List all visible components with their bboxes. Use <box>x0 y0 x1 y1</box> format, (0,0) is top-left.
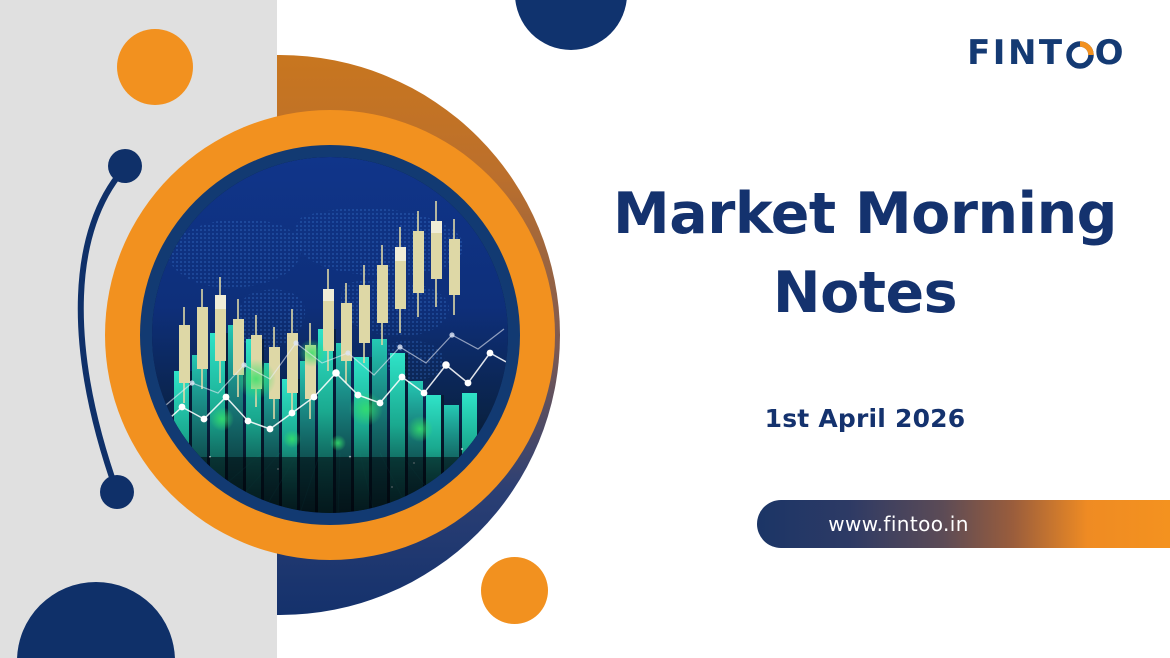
fintoo-logo[interactable]: FINT O <box>967 33 1126 73</box>
market-chart-artwork <box>152 157 508 513</box>
content-area: FINT O Market Morning Notes 1st April 20… <box>560 0 1170 658</box>
page-title: Market Morning Notes <box>560 175 1170 332</box>
decor-circle-orange-bottomright <box>481 557 548 624</box>
logo-o-with-arc-icon <box>1065 38 1095 69</box>
website-url-banner[interactable]: www.fintoo.in <box>757 500 1170 548</box>
logo-text-o: O <box>1095 36 1126 70</box>
decor-circle-orange-topleft <box>117 29 193 105</box>
logo-text-fint: FINT <box>967 36 1065 70</box>
arc-dot-bottom <box>100 475 134 509</box>
arc-dot-top <box>108 149 142 183</box>
page-title-line1: Market Morning <box>560 175 1170 254</box>
page-title-line2: Notes <box>560 254 1170 333</box>
poster-canvas: FINT O Market Morning Notes 1st April 20… <box>0 0 1170 658</box>
decorative-arc <box>55 140 185 520</box>
publication-date: 1st April 2026 <box>560 404 1170 433</box>
website-url-text: www.fintoo.in <box>828 512 1099 536</box>
